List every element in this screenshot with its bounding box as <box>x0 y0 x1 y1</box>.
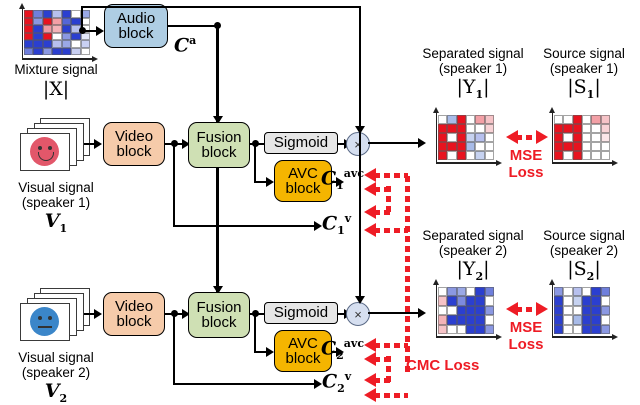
heatmap-cell <box>62 33 71 41</box>
heatmap-cell <box>601 151 610 160</box>
wire-mul2-to-output <box>368 312 424 314</box>
heatmap-cell <box>24 25 33 33</box>
heatmap-cell <box>438 315 447 324</box>
heatmap-cell <box>563 151 572 160</box>
heatmap-cell <box>573 306 582 315</box>
heatmap-cell <box>475 287 484 296</box>
video-block-speaker1[interactable]: Video block <box>103 122 165 166</box>
heatmap-cell <box>591 296 600 305</box>
multiply-node-speaker2: × <box>346 302 370 326</box>
arrow-top-bus-to-mul2 <box>355 296 365 304</box>
heatmap-cell <box>52 40 61 48</box>
heatmap-cell <box>43 25 52 33</box>
heatmap-cell <box>582 133 591 142</box>
diagram-canvas: Mixture signal |X| Visual signal (speake… <box>0 0 640 403</box>
mse-loss-label-2: MSE Loss <box>496 320 556 354</box>
heatmap-cell <box>554 296 563 305</box>
fusion1-line2: block <box>201 145 236 160</box>
heatmap-cell <box>447 133 456 142</box>
source-spectrogram-speaker2 <box>548 284 616 338</box>
heatmap-cell <box>485 124 494 133</box>
wire-mul1-to-output <box>368 142 424 144</box>
heatmap-cell <box>24 33 33 41</box>
video-block-speaker2[interactable]: Video block <box>103 292 165 336</box>
heatmap-cell <box>573 142 582 151</box>
heatmap-cell <box>601 115 610 124</box>
heatmap-cell <box>475 315 484 324</box>
heatmap-cell <box>591 142 600 151</box>
heatmap-cell <box>457 142 466 151</box>
heatmap-cell <box>582 306 591 315</box>
heatmap-cell <box>563 142 572 151</box>
heatmap-cell <box>591 315 600 324</box>
heatmap-cell <box>601 315 610 324</box>
heatmap-cell <box>563 306 572 315</box>
source2-symbol: |S2| <box>528 259 640 283</box>
visual-signal2-label: Visual signal (speaker 2) V2 <box>0 350 112 405</box>
heatmap-cell <box>457 315 466 324</box>
heatmap-cell <box>582 315 591 324</box>
arrow-fusion2-to-avc <box>266 347 274 357</box>
heatmap-cell <box>71 48 80 56</box>
heatmap-cell <box>438 142 447 151</box>
heatmap-cell <box>591 124 600 133</box>
heatmap-cell <box>466 287 475 296</box>
source-spectrogram-speaker1 <box>548 112 616 164</box>
heatmap-cell <box>447 296 456 305</box>
heatmap-cell <box>24 18 33 26</box>
heatmap-cell <box>485 115 494 124</box>
heatmap-cell <box>485 133 494 142</box>
heatmap-cell <box>591 151 600 160</box>
heatmap-cell <box>475 306 484 315</box>
heatmap-cell <box>485 142 494 151</box>
arrow-visual2-to-video <box>94 309 102 319</box>
cmc-arrow-c2v-a <box>364 373 376 387</box>
heatmap-cell <box>447 124 456 133</box>
heatmap-cell <box>466 142 475 151</box>
heatmap-cell <box>563 115 572 124</box>
mse1-arrow-right <box>536 130 548 144</box>
wire-mixture-up <box>81 7 83 31</box>
video2-line2: block <box>116 314 151 329</box>
heatmap-cell <box>62 40 71 48</box>
mixture-symbol: |X| <box>0 79 112 100</box>
heatmap-cell <box>52 10 61 18</box>
heatmap-cell <box>43 10 52 18</box>
heatmap-cell <box>33 33 42 41</box>
heatmap-cell <box>466 151 475 160</box>
v2-feature-label: C2v <box>322 371 362 395</box>
heatmap-cell <box>485 287 494 296</box>
heatmap-cell <box>62 18 71 26</box>
cmc-elbow-top-h <box>374 210 390 215</box>
heatmap-cell <box>466 296 475 305</box>
separated-spectrogram-speaker2 <box>432 284 500 338</box>
heatmap-cell <box>475 325 484 334</box>
avc1-line2: block <box>285 181 320 196</box>
heatmap-cell <box>485 306 494 315</box>
heatmap-cell <box>447 315 456 324</box>
wire-top-bus <box>81 6 361 8</box>
heatmap-cell <box>554 133 563 142</box>
avc1-line1: AVC <box>288 166 318 181</box>
video1-line2: block <box>116 144 151 159</box>
heatmap-cell <box>591 287 600 296</box>
heatmap-cell <box>582 287 591 296</box>
heatmap-cell <box>447 325 456 334</box>
heatmap-cell <box>466 124 475 133</box>
heatmap-cell <box>466 325 475 334</box>
heatmap-cell <box>591 115 600 124</box>
audio-block-line1: Audio <box>117 11 155 26</box>
video1-line1: Video <box>115 129 153 144</box>
heatmap-cell <box>582 124 591 133</box>
heatmap-cell <box>554 306 563 315</box>
arrow-mul1-to-output <box>418 138 426 148</box>
cmc-line-c2v-b <box>374 393 408 398</box>
heatmap-cell <box>457 115 466 124</box>
heatmap-cell <box>438 124 447 133</box>
heatmap-cell <box>81 40 90 48</box>
sigmoid2-label: Sigmoid <box>274 305 328 320</box>
heatmap-cell <box>52 48 61 56</box>
heatmap-cell <box>554 287 563 296</box>
heatmap-cell <box>582 296 591 305</box>
heatmap-cell <box>582 151 591 160</box>
heatmap-cell <box>466 115 475 124</box>
cmc-arrow-c1v-a <box>364 205 376 219</box>
heatmap-cell <box>563 315 572 324</box>
heatmap-cell <box>438 287 447 296</box>
heatmap-cell <box>573 296 582 305</box>
v1-feature-label: C1v <box>322 213 362 237</box>
heatmap-cell <box>573 115 582 124</box>
heatmap-cell <box>457 151 466 160</box>
separated1-symbol: |Y1| <box>414 77 532 101</box>
source-signal2-label: Source signal (speaker 2) |S2| <box>528 228 640 283</box>
separated-spectrogram-speaker1 <box>432 112 500 164</box>
heatmap-cell <box>466 315 475 324</box>
heatmap-cell <box>573 315 582 324</box>
heatmap-cell <box>24 10 33 18</box>
heatmap-cell <box>81 48 90 56</box>
wire-audio-out <box>168 25 218 27</box>
multiply-node-speaker1: × <box>346 132 370 156</box>
wire-video1-to-cv-h <box>173 225 320 227</box>
heatmap-cell <box>457 296 466 305</box>
heatmap-cell <box>591 325 600 334</box>
heatmap-cell <box>475 124 484 133</box>
heatmap-cell <box>554 115 563 124</box>
heatmap-cell <box>52 33 61 41</box>
wire-top-bus-down2 <box>359 6 361 301</box>
heatmap-cell <box>466 133 475 142</box>
heatmap-cell <box>33 48 42 56</box>
heatmap-cell <box>52 25 61 33</box>
heatmap-cell <box>71 18 80 26</box>
heatmap-cell <box>438 306 447 315</box>
heatmap-cell <box>563 287 572 296</box>
arrow-video2-to-cv <box>314 379 322 389</box>
heatmap-cell <box>485 296 494 305</box>
heatmap-cell <box>601 306 610 315</box>
heatmap-cell <box>447 306 456 315</box>
sigmoid1-label: Sigmoid <box>274 135 328 150</box>
avc2-line2: block <box>285 351 320 366</box>
cmc-line-c2avc-a <box>374 343 408 348</box>
heatmap-cell <box>601 124 610 133</box>
heatmap-cell <box>582 115 591 124</box>
heatmap-cell <box>601 142 610 151</box>
cmc-line-c1v-b <box>374 228 408 233</box>
visual-signal1-label: Visual signal (speaker 1) V1 <box>0 180 112 235</box>
arrow-visual1-to-video <box>94 139 102 149</box>
wire-video1-to-cv-v <box>173 143 175 227</box>
cmc-line-c1avc-a <box>374 173 408 178</box>
heatmap-cell <box>447 142 456 151</box>
visual1-symbol: V1 <box>0 211 112 235</box>
wire-fusion1-to-avc-v <box>254 143 256 183</box>
wire-video2-to-cv-v <box>173 313 175 385</box>
heatmap-cell <box>71 33 80 41</box>
mse-loss-label-1: MSE Loss <box>496 148 556 182</box>
heatmap-cell <box>573 287 582 296</box>
cmc-loss-label: CMC Loss <box>406 358 516 375</box>
arrow-fusion1-to-avc <box>266 177 274 187</box>
heatmap-cell <box>447 115 456 124</box>
heatmap-cell <box>601 325 610 334</box>
heatmap-cell <box>33 40 42 48</box>
heatmap-cell <box>563 133 572 142</box>
visual2-symbol: V2 <box>0 381 112 405</box>
heatmap-cell <box>43 18 52 26</box>
visual-frames-speaker1 <box>14 118 98 176</box>
heatmap-cell <box>457 325 466 334</box>
mse2-arrow-right <box>536 302 548 316</box>
heatmap-cell <box>582 142 591 151</box>
heatmap-cell <box>466 306 475 315</box>
heatmap-cell <box>33 10 42 18</box>
heatmap-cell <box>475 296 484 305</box>
heatmap-cell <box>62 25 71 33</box>
mixture-signal-label: Mixture signal |X| <box>0 62 112 100</box>
heatmap-cell <box>457 124 466 133</box>
heatmap-cell <box>43 33 52 41</box>
heatmap-cell <box>438 325 447 334</box>
heatmap-cell <box>447 151 456 160</box>
sigmoid-block-speaker2[interactable]: Sigmoid <box>264 302 338 324</box>
wire-video2-to-cv-h <box>173 383 320 385</box>
heatmap-cell <box>601 296 610 305</box>
heatmap-cell <box>475 151 484 160</box>
heatmap-cell <box>438 133 447 142</box>
heatmap-cell <box>591 133 600 142</box>
fusion-block-speaker1[interactable]: Fusion block <box>188 122 250 168</box>
heatmap-cell <box>457 306 466 315</box>
avc2-feature-label: C2avc <box>321 338 367 362</box>
heatmap-cell <box>457 287 466 296</box>
heatmap-cell <box>62 10 71 18</box>
heatmap-cell <box>33 18 42 26</box>
separated-signal1-label: Separated signal (speaker 1) |Y1| <box>414 46 532 101</box>
heatmap-cell <box>563 296 572 305</box>
heatmap-cell <box>485 151 494 160</box>
heatmap-cell <box>52 18 61 26</box>
heatmap-cell <box>447 287 456 296</box>
heatmap-cell <box>485 315 494 324</box>
heatmap-cell <box>24 40 33 48</box>
arrow-video1-to-cv <box>314 221 322 231</box>
fusion2-line2: block <box>201 315 236 330</box>
video2-line1: Video <box>115 299 153 314</box>
cmc-elbow-bot-h <box>374 378 390 383</box>
heatmap-cell <box>591 306 600 315</box>
heatmap-cell <box>573 133 582 142</box>
heatmap-cell <box>457 133 466 142</box>
arrow-mul2-to-output <box>418 308 426 318</box>
heatmap-cell <box>475 115 484 124</box>
source-signal1-label: Source signal (speaker 1) |S1| <box>528 46 640 101</box>
heatmap-cell <box>438 151 447 160</box>
sigmoid-block-speaker1[interactable]: Sigmoid <box>264 132 338 154</box>
heatmap-cell <box>601 287 610 296</box>
heatmap-cell <box>24 48 33 56</box>
arrow-mixture-to-audio <box>96 26 104 36</box>
heatmap-cell <box>475 133 484 142</box>
heatmap-cell <box>573 325 582 334</box>
separated2-symbol: |Y2| <box>414 259 532 283</box>
heatmap-cell <box>563 325 572 334</box>
fusion1-line1: Fusion <box>196 130 241 145</box>
heatmap-cell <box>62 48 71 56</box>
heatmap-cell <box>573 151 582 160</box>
fusion-block-speaker2[interactable]: Fusion block <box>188 292 250 338</box>
heatmap-cell <box>573 124 582 133</box>
audio-block-line2: block <box>118 26 153 41</box>
heatmap-cell <box>438 296 447 305</box>
heatmap-cell <box>43 48 52 56</box>
heatmap-cell <box>475 142 484 151</box>
fusion2-line1: Fusion <box>196 300 241 315</box>
source1-symbol: |S1| <box>528 77 640 101</box>
visual-frames-speaker2 <box>14 288 98 346</box>
heatmap-cell <box>71 10 80 18</box>
heatmap-cell <box>563 124 572 133</box>
heatmap-cell <box>554 124 563 133</box>
avc2-line1: AVC <box>288 336 318 351</box>
audio-block[interactable]: Audio block <box>104 4 168 48</box>
mixture-spectrogram <box>18 8 96 60</box>
heatmap-cell <box>438 115 447 124</box>
wire-fusion2-to-avc-v <box>254 313 256 353</box>
audio-feature-label: Ca <box>174 35 214 57</box>
heatmap-cell <box>71 40 80 48</box>
multiply2-glyph: × <box>354 307 362 322</box>
heatmap-cell <box>485 325 494 334</box>
heatmap-cell <box>582 325 591 334</box>
heatmap-cell <box>43 40 52 48</box>
heatmap-cell <box>33 25 42 33</box>
heatmap-cell <box>601 133 610 142</box>
separated-signal2-label: Separated signal (speaker 2) |Y2| <box>414 228 532 283</box>
